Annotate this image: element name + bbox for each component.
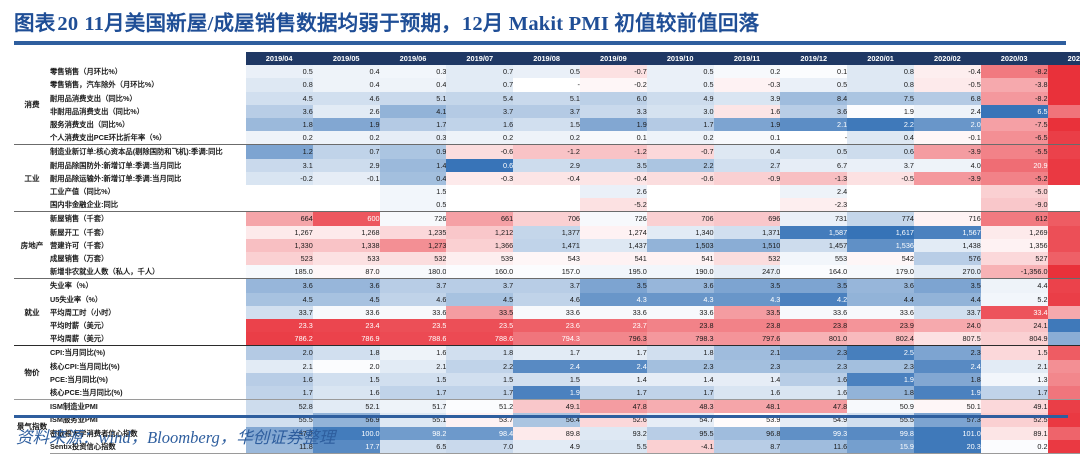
data-cell: 0.8 — [847, 65, 914, 78]
data-cell: 33.6 — [847, 306, 914, 319]
data-cell: 160.0 — [446, 265, 513, 279]
data-cell: 731 — [780, 212, 847, 226]
table-row: 成屋销售（万套）52353353253954354154153255354257… — [14, 252, 1080, 265]
data-cell — [847, 185, 914, 198]
data-cell: 1.6 — [446, 118, 513, 131]
data-cell: 1.6 — [313, 386, 380, 400]
data-cell: -15.2 — [1048, 78, 1080, 91]
data-cell: 539 — [446, 252, 513, 265]
row-label: CPI:当月同比(%) — [50, 346, 246, 360]
data-cell: 23.6 — [513, 319, 580, 332]
row-label: 失业率（%） — [50, 279, 246, 293]
data-cell: 0.2 — [246, 131, 313, 145]
data-cell: 1,366 — [446, 239, 513, 252]
data-cell: 1.8 — [313, 346, 380, 360]
data-cell: 1,338 — [313, 239, 380, 252]
data-cell: 0.7 — [446, 65, 513, 78]
data-cell: 98.4 — [446, 427, 513, 440]
data-cell: 527 — [981, 252, 1048, 265]
data-cell: 2.0 — [246, 346, 313, 360]
data-cell: 600 — [313, 212, 380, 226]
data-cell: -39.1 — [1048, 440, 1080, 454]
data-cell: 1,457 — [780, 239, 847, 252]
data-cell: 2.1 — [246, 360, 313, 373]
data-cell: 0.2 — [313, 131, 380, 145]
category-label-1: 工业 — [14, 145, 50, 212]
data-cell: 270.0 — [914, 265, 981, 279]
data-cell: 802.4 — [847, 332, 914, 346]
row-label: 平均周工时（小时） — [50, 306, 246, 319]
data-cell: 33.6 — [647, 306, 714, 319]
data-cell: 0.2 — [647, 131, 714, 145]
data-cell: 2.3 — [780, 360, 847, 373]
data-cell: 0.4 — [714, 145, 781, 159]
data-cell: 1.2 — [246, 145, 313, 159]
row-label: 核心CPI:当月同比(%) — [50, 360, 246, 373]
table-row: 房地产新屋销售（千套）66460072666170672670669673177… — [14, 212, 1080, 226]
data-cell: 51.7 — [380, 400, 447, 414]
data-cell: 0.7 — [446, 78, 513, 91]
column-header-2019-12: 2019/12 — [780, 52, 847, 65]
data-cell: 23.9 — [847, 319, 914, 332]
data-cell: 2.1 — [380, 360, 447, 373]
row-label: ISM制造业PMI — [50, 400, 246, 414]
column-header-2020-04: 2020/04 — [1048, 52, 1080, 65]
table-row: 工业制造业新订单:核心资本品(剔除国防和飞机):季调:同比1.20.70.9-0… — [14, 145, 1080, 159]
data-cell: 1.7 — [647, 118, 714, 131]
data-cell: 3.6 — [647, 279, 714, 293]
figure-number: 20 — [55, 13, 84, 35]
data-cell — [313, 185, 380, 198]
row-label: 耐用品消费支出（同比%） — [50, 92, 246, 105]
data-cell: 3.5 — [580, 279, 647, 293]
data-cell: -0.2 — [580, 78, 647, 91]
data-cell: 0.6 — [446, 159, 513, 172]
data-cell: 2.3 — [714, 360, 781, 373]
data-cell: 1,330 — [246, 239, 313, 252]
data-cell: -0.1 — [313, 172, 380, 185]
data-cell: 1,377 — [513, 226, 580, 239]
data-cell: 706 — [647, 212, 714, 226]
table-row: PCE:当月同比(%)1.61.51.51.51.51.41.41.41.61.… — [14, 373, 1080, 386]
data-cell: -1,356.0 — [981, 265, 1048, 279]
data-cell — [1048, 198, 1080, 212]
data-cell: -0.3 — [446, 172, 513, 185]
data-cell: -12.3 — [1048, 131, 1080, 145]
data-cell: 1,437 — [580, 239, 647, 252]
data-cell: 2.4 — [580, 360, 647, 373]
data-cell: 797.6 — [714, 332, 781, 346]
data-cell: 4.4 — [981, 279, 1048, 293]
data-cell: 33.7 — [246, 306, 313, 319]
data-cell: - — [780, 131, 847, 145]
data-cell: 1.9 — [847, 373, 914, 386]
data-cell: 1.7 — [580, 346, 647, 360]
table-header: 2019/042019/052019/062019/072019/082019/… — [14, 52, 1080, 65]
data-cell: 0.2 — [446, 131, 513, 145]
data-cell: -0.7 — [647, 145, 714, 159]
table-row: 工业产值（同比%）1.52.62.4-5.0-31.433.1 — [14, 185, 1080, 198]
data-cell — [246, 198, 313, 212]
data-cell: 5.4 — [446, 92, 513, 105]
data-cell: 706 — [513, 212, 580, 226]
data-cell — [647, 185, 714, 198]
data-cell — [1048, 185, 1080, 198]
data-cell: 179.0 — [847, 265, 914, 279]
column-header-2019-10: 2019/10 — [647, 52, 714, 65]
data-cell: -2.3 — [780, 198, 847, 212]
table-row: 服务消费支出（同比%）1.81.91.71.61.51.91.71.92.12.… — [14, 118, 1080, 131]
figure-title-text: 11月美国新屋/成屋销售数据均弱于预期，12月 Makit PMI 初值较前值回… — [84, 13, 759, 35]
row-label: 服务消费支出（同比%） — [50, 118, 246, 131]
data-cell: 2.2 — [647, 159, 714, 172]
row-label: 新增非农就业人数（私人，千人） — [50, 265, 246, 279]
data-table-area: 2019/042019/052019/062019/072019/082019/… — [14, 52, 1068, 454]
data-cell: 532 — [380, 252, 447, 265]
table-row: 消费零售销售（月环比%）0.50.40.30.70.5-0.70.50.20.1… — [14, 65, 1080, 78]
data-cell: -9.0 — [981, 198, 1048, 212]
data-cell: 3.6 — [246, 105, 313, 118]
data-cell: 6.5 — [380, 440, 447, 454]
table-row: 耐用品除运输外:新增订单:季调:当月同比-0.2-0.10.4-0.3-0.4-… — [14, 172, 1080, 185]
table-row: 物价CPI:当月同比(%)2.01.81.61.81.71.71.82.12.3… — [14, 346, 1080, 360]
figure-label: 图表 — [14, 13, 55, 35]
data-cell: 1.8 — [647, 346, 714, 360]
data-cell: 16.0 — [1048, 293, 1080, 306]
data-cell: 2.1 — [981, 360, 1048, 373]
data-cell: -0.9 — [714, 172, 781, 185]
data-cell: 2.1 — [714, 346, 781, 360]
data-cell: 6.5 — [981, 105, 1048, 118]
data-cell: 15.9 — [847, 440, 914, 454]
category-label-0: 消费 — [14, 65, 50, 145]
table-row: 景气指数ISM制造业PMI52.852.151.751.249.147.848.… — [14, 400, 1080, 414]
data-cell: 164.0 — [780, 265, 847, 279]
data-cell: 5.2 — [981, 293, 1048, 306]
data-cell: 2.3 — [647, 360, 714, 373]
data-cell: 934 — [1048, 226, 1080, 239]
data-cell: 570 — [1048, 212, 1080, 226]
data-cell: 1,617 — [847, 226, 914, 239]
table-row: 新屋开工（千套）1,2671,2681,2351,2121,3771,2741,… — [14, 226, 1080, 239]
data-cell: 1,340 — [647, 226, 714, 239]
data-cell: 1,269 — [981, 226, 1048, 239]
header-label-blank — [50, 52, 246, 65]
data-cell: -8.2 — [981, 65, 1048, 78]
data-cell: -0.7 — [580, 65, 647, 78]
data-cell: -3.9 — [914, 145, 981, 159]
data-cell: 101.0 — [914, 427, 981, 440]
data-cell: -12.9 — [1048, 172, 1080, 185]
data-cell: 786.2 — [246, 332, 313, 346]
data-cell: -1.3 — [780, 172, 847, 185]
data-cell: 0.4 — [380, 172, 447, 185]
table-row: 国内非金融企业:同比0.5-5.2-2.3-9.0-23.811.4 — [14, 198, 1080, 212]
data-cell: 89.8 — [513, 427, 580, 440]
data-cell: 3.6 — [246, 279, 313, 293]
page-title: 图表2011月美国新屋/成屋销售数据均弱于预期，12月 Makit PMI 初值… — [14, 6, 1066, 36]
data-cell: 774 — [847, 212, 914, 226]
data-cell: 796.3 — [580, 332, 647, 346]
data-cell: 541 — [580, 252, 647, 265]
data-cell: 1.5 — [380, 185, 447, 198]
data-cell — [513, 185, 580, 198]
data-cell: 1.7 — [246, 386, 313, 400]
table-header-row: 2019/042019/052019/062019/072019/082019/… — [14, 52, 1080, 65]
data-cell: 1.8 — [914, 373, 981, 386]
data-cell: 33.5 — [714, 306, 781, 319]
data-cell: 1.5 — [513, 118, 580, 131]
data-cell: -0.4 — [580, 172, 647, 185]
data-cell: 6.8 — [914, 92, 981, 105]
data-cell: 4.6 — [513, 293, 580, 306]
data-cell: 3.3 — [580, 105, 647, 118]
data-cell: 0.6 — [847, 145, 914, 159]
data-cell: -5.2 — [981, 172, 1048, 185]
data-cell: 3.7 — [513, 279, 580, 293]
data-cell — [714, 198, 781, 212]
table-row: 非耐用品消费支出（同比%）3.62.64.13.73.73.33.01.63.6… — [14, 105, 1080, 118]
data-cell: 4.5 — [313, 293, 380, 306]
data-cell: 1.4 — [714, 373, 781, 386]
data-cell: 20.9 — [981, 159, 1048, 172]
data-cell: 1.6 — [714, 386, 781, 400]
row-label: 营建许可（千套） — [50, 239, 246, 252]
row-label: 工业产值（同比%） — [50, 185, 246, 198]
data-cell: 33.6 — [513, 306, 580, 319]
data-cell: 23.7 — [580, 319, 647, 332]
data-cell: 0.4 — [847, 131, 914, 145]
data-cell: -3.8 — [981, 78, 1048, 91]
table-row: 新增非农就业人数（私人，千人）185.087.0180.0160.0157.01… — [14, 265, 1080, 279]
data-cell: 0.9 — [380, 145, 447, 159]
data-cell — [246, 185, 313, 198]
data-cell: 1.8 — [446, 346, 513, 360]
row-label: 耐用品除运输外:新增订单:季调:当月同比 — [50, 172, 246, 185]
data-cell: -1.2 — [513, 145, 580, 159]
data-cell: 2.7 — [714, 159, 781, 172]
data-cell: 25.1 — [1048, 319, 1080, 332]
data-cell: 33.7 — [914, 306, 981, 319]
data-cell: 3.6 — [847, 279, 914, 293]
category-label-2: 房地产 — [14, 212, 50, 279]
data-cell: 0.9 — [1048, 386, 1080, 400]
data-cell: 185.0 — [246, 265, 313, 279]
data-cell: 3.6 — [780, 105, 847, 118]
data-cell: -19,835.0 — [1048, 265, 1080, 279]
data-cell: 0.5 — [780, 145, 847, 159]
data-cell: 788.6 — [380, 332, 447, 346]
data-cell: 1.5 — [513, 373, 580, 386]
data-cell: 2.4 — [780, 185, 847, 198]
data-cell: 47.8 — [780, 400, 847, 414]
data-cell: 2.0 — [914, 118, 981, 131]
data-cell: 661 — [446, 212, 513, 226]
data-cell: 1.6 — [780, 386, 847, 400]
data-cell: 2.9 — [313, 159, 380, 172]
table-row: 耐用品除国防外:新增订单:季调:当月同比3.12.91.40.62.93.52.… — [14, 159, 1080, 172]
data-cell: 2.6 — [580, 185, 647, 198]
data-cell: 2.2 — [847, 118, 914, 131]
row-label: 新屋销售（千套） — [50, 212, 246, 226]
data-cell: 5.5 — [580, 440, 647, 454]
data-cell: -0.5 — [847, 172, 914, 185]
data-cell: 33.6 — [313, 306, 380, 319]
data-cell: 0.1 — [580, 131, 647, 145]
data-cell: 726 — [580, 212, 647, 226]
data-cell: 1.3 — [981, 373, 1048, 386]
category-label-3: 就业 — [14, 279, 50, 346]
data-cell: 523 — [246, 252, 313, 265]
row-label: 非耐用品消费支出（同比%） — [50, 105, 246, 118]
data-cell: -10.7 — [1048, 145, 1080, 159]
data-cell: -0.5 — [914, 78, 981, 91]
table-row: 平均周工时（小时）33.733.633.633.533.633.633.633.… — [14, 306, 1080, 319]
data-cell: 8.7 — [714, 440, 781, 454]
data-cell: 8.4 — [780, 92, 847, 105]
row-label: 成屋销售（万套） — [50, 252, 246, 265]
row-label: 零售销售，汽车除外（月环比%） — [50, 78, 246, 91]
data-cell — [914, 198, 981, 212]
data-cell — [714, 185, 781, 198]
data-cell: -18.7 — [1048, 92, 1080, 105]
table-row: U5失业率（%）4.54.54.64.54.64.34.34.34.24.44.… — [14, 293, 1080, 306]
data-cell: 1.8 — [847, 386, 914, 400]
data-cell: -18.7 — [1048, 118, 1080, 131]
data-cell: 0.5 — [1048, 373, 1080, 386]
footer-divider — [14, 415, 1068, 418]
data-cell: 24.1 — [981, 319, 1048, 332]
data-cell: 0.1 — [780, 65, 847, 78]
data-cell: 1.5 — [981, 346, 1048, 360]
row-label: 核心PCE:当月同比(%) — [50, 386, 246, 400]
data-cell: 0.7 — [313, 145, 380, 159]
data-cell: 0.5 — [780, 78, 847, 91]
data-cell: 33.6 — [780, 306, 847, 319]
row-label: 平均时薪（美元） — [50, 319, 246, 332]
data-cell: 6.7 — [780, 159, 847, 172]
row-label: 耐用品除国防外:新增订单:季调:当月同比 — [50, 159, 246, 172]
data-cell: 2.4 — [914, 360, 981, 373]
data-cell: 0.1 — [714, 131, 781, 145]
data-cell: 23.4 — [313, 319, 380, 332]
data-cell: 11.6 — [780, 440, 847, 454]
data-cell: 2.3 — [847, 360, 914, 373]
data-cell: 4.3 — [647, 293, 714, 306]
data-cell: 1.5 — [380, 373, 447, 386]
data-cell: 1.9 — [714, 118, 781, 131]
data-cell: 5.1 — [513, 92, 580, 105]
data-cell: 49.1 — [981, 400, 1048, 414]
data-cell: -7.9 — [1048, 105, 1080, 118]
data-cell: 3.7 — [847, 159, 914, 172]
data-cell: 541 — [647, 252, 714, 265]
data-cell: 4.4 — [914, 293, 981, 306]
data-cell: 52.1 — [313, 400, 380, 414]
table-row: 零售销售，汽车除外（月环比%）0.80.40.40.7--0.20.5-0.30… — [14, 78, 1080, 91]
data-cell: -14.7 — [1048, 65, 1080, 78]
data-cell: 33.5 — [446, 306, 513, 319]
data-cell — [313, 198, 380, 212]
data-cell: 99.3 — [780, 427, 847, 440]
data-cell: -0.6 — [647, 172, 714, 185]
data-cell: -3.9 — [914, 172, 981, 185]
table-row: 平均周薪（美元）786.2786.9788.6788.6794.3796.379… — [14, 332, 1080, 346]
data-cell: 0.4 — [313, 78, 380, 91]
data-cell: 3.7 — [446, 279, 513, 293]
data-cell: 33.4 — [981, 306, 1048, 319]
data-cell: 2.3 — [914, 346, 981, 360]
data-cell: -0.3 — [714, 78, 781, 91]
data-cell: 1.4 — [380, 159, 447, 172]
data-cell: 3.5 — [580, 159, 647, 172]
data-cell: -0.4 — [914, 65, 981, 78]
data-cell: 1.7 — [380, 386, 447, 400]
data-cell: 87.0 — [313, 265, 380, 279]
data-cell: 786.9 — [313, 332, 380, 346]
data-cell: 1,471 — [513, 239, 580, 252]
data-cell: 48.3 — [647, 400, 714, 414]
data-cell: -5.5 — [981, 145, 1048, 159]
data-cell: 47.8 — [580, 400, 647, 414]
column-header-2019-07: 2019/07 — [446, 52, 513, 65]
data-cell: 51.2 — [446, 400, 513, 414]
data-cell: 49.1 — [513, 400, 580, 414]
data-cell: 1.6 — [380, 346, 447, 360]
data-cell: 2.0 — [313, 360, 380, 373]
data-cell: 23.5 — [380, 319, 447, 332]
data-cell — [847, 198, 914, 212]
data-cell: 23.8 — [714, 319, 781, 332]
row-label: PCE:当月同比(%) — [50, 373, 246, 386]
data-cell: 1,267 — [246, 226, 313, 239]
data-cell: 1,274 — [580, 226, 647, 239]
data-cell — [446, 185, 513, 198]
data-cell: 1.7 — [647, 386, 714, 400]
data-cell: 0.2 — [714, 65, 781, 78]
data-cell: 3.6 — [313, 279, 380, 293]
data-cell: 553 — [780, 252, 847, 265]
row-label: 零售销售（月环比%） — [50, 65, 246, 78]
data-cell: 4.3 — [714, 293, 781, 306]
data-cell: 23.8 — [647, 319, 714, 332]
data-cell: 52.8 — [246, 400, 313, 414]
data-cell: 1.4 — [580, 373, 647, 386]
data-cell: 23.3 — [246, 319, 313, 332]
data-cell: 4.6 — [380, 293, 447, 306]
data-cell: 2.4 — [914, 105, 981, 118]
data-cell: 7.0 — [446, 440, 513, 454]
data-cell: 1.4 — [1048, 360, 1080, 373]
data-cell: 0.5 — [246, 65, 313, 78]
data-cell: 48.1 — [714, 400, 781, 414]
data-cell: 4.5 — [246, 92, 313, 105]
data-cell: 50.1 — [914, 400, 981, 414]
table-row: 核心PCE:当月同比(%)1.71.61.71.71.91.71.71.61.6… — [14, 386, 1080, 400]
data-cell: 2.5 — [847, 346, 914, 360]
row-label: 国内非金融企业:同比 — [50, 198, 246, 212]
data-cell: 2.9 — [513, 159, 580, 172]
data-cell: 71.8 — [1048, 427, 1080, 440]
data-cell: 1,371 — [714, 226, 781, 239]
data-cell: 4.5 — [246, 293, 313, 306]
data-cell: 23.8 — [780, 319, 847, 332]
data-cell: 533 — [313, 252, 380, 265]
data-cell: -4.1 — [647, 440, 714, 454]
row-label: 平均周薪（美元） — [50, 332, 246, 346]
data-cell: -0.4 — [513, 172, 580, 185]
source-note: 资料来源：wind，Bloomberg，华创证券整理 — [16, 424, 335, 448]
